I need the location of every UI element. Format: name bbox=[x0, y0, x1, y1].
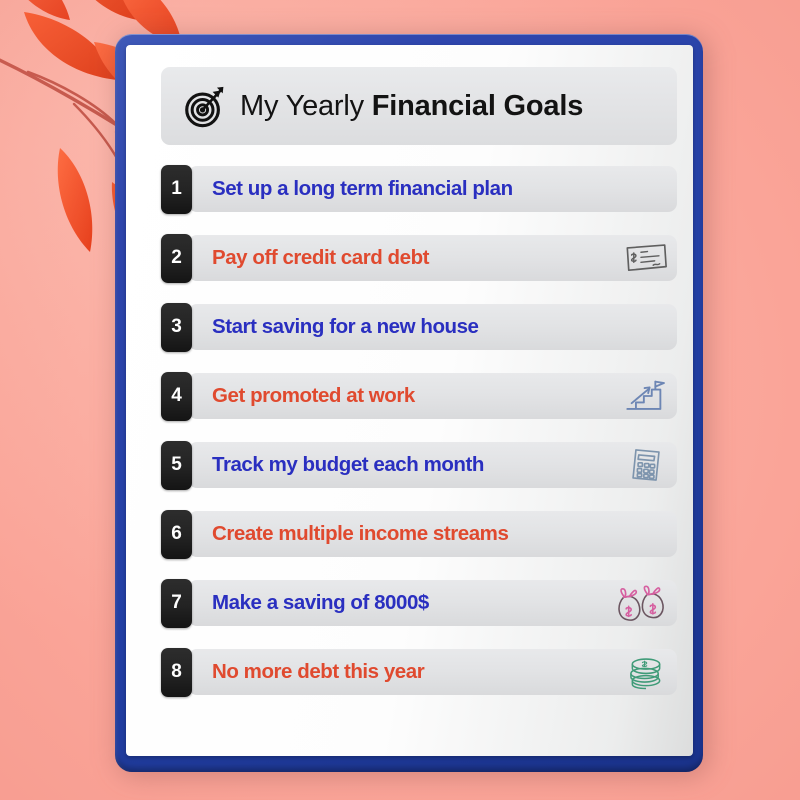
goal-number-badge: 8 bbox=[161, 648, 192, 697]
goal-text: Create multiple income streams bbox=[212, 522, 508, 546]
list-item[interactable]: 1 Set up a long term financial plan bbox=[161, 163, 677, 215]
poster-canvas: My Yearly Financial Goals 1 Set up a lon… bbox=[0, 0, 800, 800]
title-bold: Financial Goals bbox=[372, 90, 583, 122]
white-page: My Yearly Financial Goals 1 Set up a lon… bbox=[126, 45, 693, 756]
list-item[interactable]: 6 Create multiple income streams bbox=[161, 508, 677, 560]
goal-number-badge: 7 bbox=[161, 579, 192, 628]
list-item[interactable]: 4 Get promoted at work bbox=[161, 370, 677, 422]
list-item[interactable]: 5 Track my budget each month bbox=[161, 439, 677, 491]
title-light: My Yearly bbox=[240, 90, 364, 122]
goal-text: Track my budget each month bbox=[212, 453, 484, 477]
target-dartboard-icon bbox=[181, 84, 227, 130]
list-item[interactable]: 8 No more debt this year bbox=[161, 646, 677, 698]
header-bar: My Yearly Financial Goals bbox=[161, 67, 677, 145]
list-item[interactable]: 2 Pay off credit card debt bbox=[161, 232, 677, 284]
calculator-icon bbox=[623, 445, 669, 485]
goal-number-badge: 5 bbox=[161, 441, 192, 490]
list-item[interactable]: 3 Start saving for a new house bbox=[161, 301, 677, 353]
goal-text: Make a saving of 8000$ bbox=[212, 591, 429, 615]
goal-text: Set up a long term financial plan bbox=[212, 177, 513, 201]
goal-text: Start saving for a new house bbox=[212, 315, 479, 339]
goals-list: 1 Set up a long term financial plan 2 Pa… bbox=[161, 163, 677, 715]
list-item[interactable]: 7 Make a saving of 8000$ bbox=[161, 577, 677, 629]
cheque-icon bbox=[623, 238, 669, 278]
goal-text: Pay off credit card debt bbox=[212, 246, 429, 270]
goal-number-badge: 3 bbox=[161, 303, 192, 352]
goal-number-badge: 4 bbox=[161, 372, 192, 421]
goal-number-badge: 1 bbox=[161, 165, 192, 214]
goal-number-badge: 2 bbox=[161, 234, 192, 283]
goal-text: No more debt this year bbox=[212, 660, 424, 684]
coins-stack-icon bbox=[623, 652, 669, 692]
money-bags-icon bbox=[615, 583, 669, 623]
page-title: My Yearly Financial Goals bbox=[240, 90, 583, 123]
stairs-flag-icon bbox=[623, 376, 669, 416]
blue-frame: My Yearly Financial Goals 1 Set up a lon… bbox=[115, 34, 703, 772]
goal-number-badge: 6 bbox=[161, 510, 192, 559]
goal-text: Get promoted at work bbox=[212, 384, 415, 408]
